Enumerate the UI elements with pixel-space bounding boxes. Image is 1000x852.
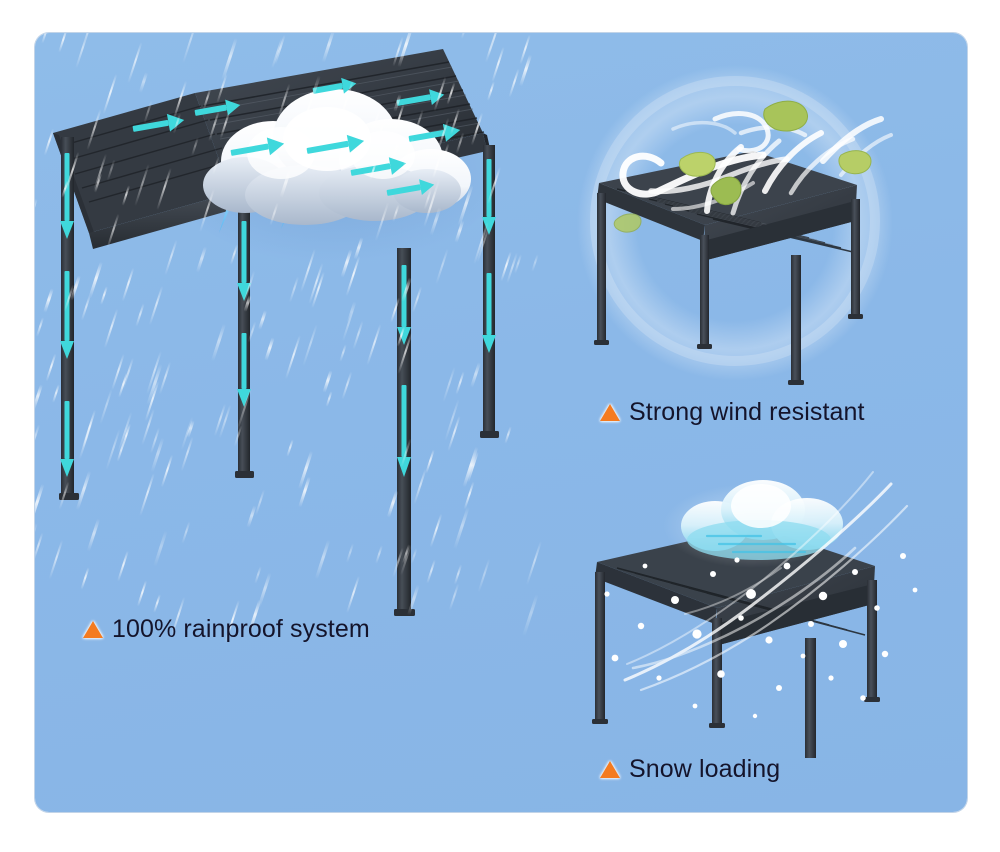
feature-panel: 100% rainproof system — [35, 33, 967, 812]
rainproof-svg — [35, 33, 535, 633]
label-wind-text: Strong wind resistant — [629, 398, 865, 427]
triangle-bullet-icon — [600, 404, 620, 421]
triangle-bullet-icon — [600, 761, 620, 778]
feature-wind-illustration — [555, 63, 915, 393]
feature-snow-illustration — [555, 448, 935, 758]
wind-svg — [555, 63, 915, 393]
snow-svg — [555, 448, 935, 758]
label-wind: Strong wind resistant — [600, 398, 865, 427]
label-rainproof-text: 100% rainproof system — [112, 615, 370, 644]
label-rainproof: 100% rainproof system — [83, 615, 370, 644]
triangle-bullet-icon — [83, 621, 103, 638]
label-snow: Snow loading — [600, 755, 780, 784]
poster-canvas: 100% rainproof system — [0, 0, 1000, 852]
label-snow-text: Snow loading — [629, 755, 780, 784]
feature-rainproof-illustration — [35, 33, 535, 633]
